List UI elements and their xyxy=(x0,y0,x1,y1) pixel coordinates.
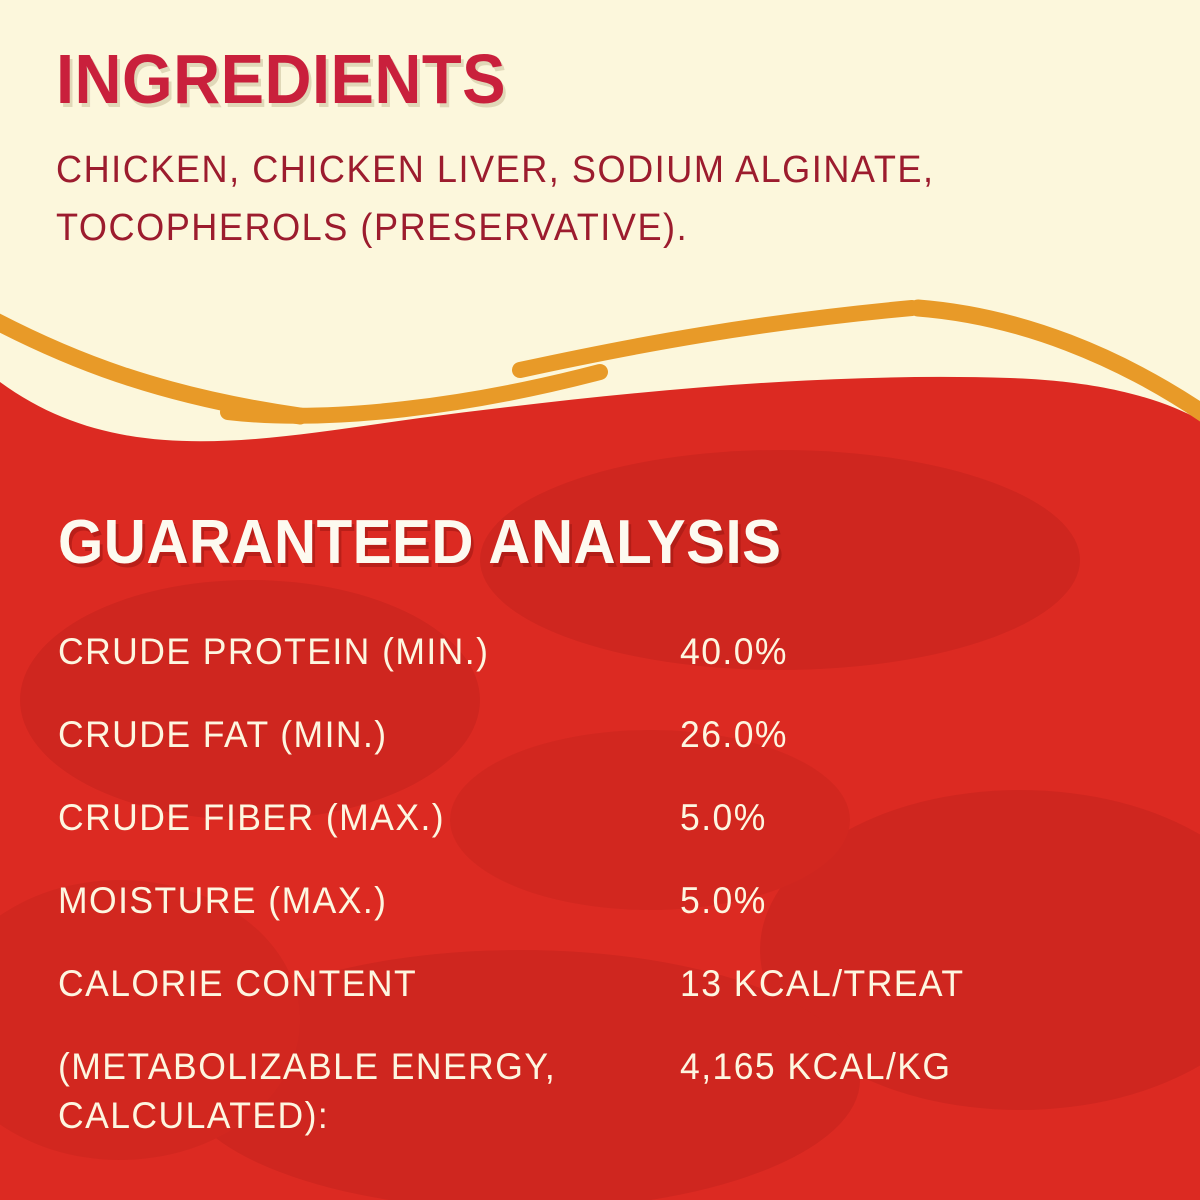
table-row: (METABOLIZABLE ENERGY, CALCULATED): 4,16… xyxy=(58,1043,1098,1139)
table-row: MOISTURE (MAX.) 5.0% xyxy=(58,877,1098,960)
nutrient-label: CRUDE PROTEIN (MIN.) xyxy=(58,628,655,711)
nutrient-label: CRUDE FAT (MIN.) xyxy=(58,711,655,794)
guaranteed-analysis-section: GUARANTEED ANALYSIS CRUDE PROTEIN (MIN.)… xyxy=(58,512,1148,1140)
nutrient-label: CALORIE CONTENT xyxy=(58,960,655,1043)
ingredients-title: INGREDIENTS xyxy=(56,44,1079,114)
table-row: CRUDE PROTEIN (MIN.) 40.0% xyxy=(58,628,1098,711)
nutrient-value: 40.0% xyxy=(680,628,1081,711)
ingredients-text: CHICKEN, CHICKEN LIVER, SODIUM ALGINATE,… xyxy=(56,142,1177,258)
nutrient-value: 4,165 KCAL/KG xyxy=(680,1043,1081,1139)
table-row: CRUDE FAT (MIN.) 26.0% xyxy=(58,711,1098,794)
nutrient-value: 26.0% xyxy=(680,711,1081,794)
nutrient-value: 5.0% xyxy=(680,877,1081,960)
orange-stroke-left xyxy=(0,318,300,416)
nutrient-value: 13 KCAL/TREAT xyxy=(680,960,1081,1043)
label-panel: INGREDIENTS CHICKEN, CHICKEN LIVER, SODI… xyxy=(0,0,1200,1200)
nutrient-label: CRUDE FIBER (MAX.) xyxy=(58,794,655,877)
guaranteed-analysis-table: CRUDE PROTEIN (MIN.) 40.0% CRUDE FAT (MI… xyxy=(58,628,1098,1140)
nutrient-label: (METABOLIZABLE ENERGY, CALCULATED): xyxy=(58,1043,655,1139)
table-row: CALORIE CONTENT 13 KCAL/TREAT xyxy=(58,960,1098,1043)
guaranteed-analysis-title: GUARANTEED ANALYSIS xyxy=(58,512,1083,574)
orange-stroke-center-right xyxy=(520,308,912,370)
nutrient-value: 5.0% xyxy=(680,794,1081,877)
nutrient-label: MOISTURE (MAX.) xyxy=(58,877,655,960)
ingredients-section: INGREDIENTS CHICKEN, CHICKEN LIVER, SODI… xyxy=(56,44,1156,296)
table-row: CRUDE FIBER (MAX.) 5.0% xyxy=(58,794,1098,877)
